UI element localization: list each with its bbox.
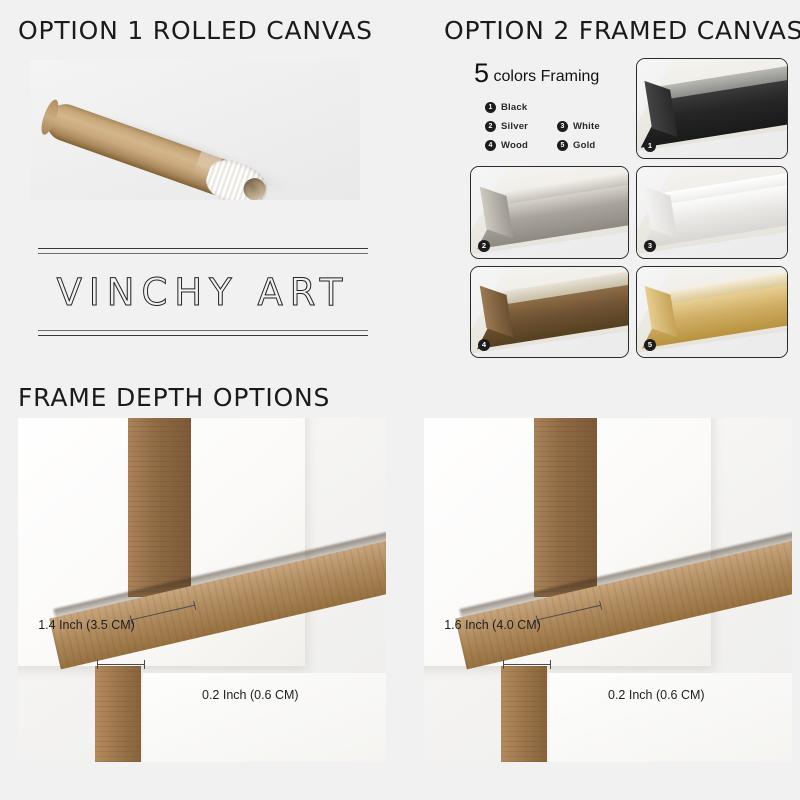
legend-row: 4 Wood 5 Gold bbox=[485, 140, 629, 151]
frame-rail-end bbox=[95, 666, 141, 762]
legend-label-black: Black bbox=[501, 102, 527, 113]
badge-1-icon: 1 bbox=[485, 102, 496, 113]
depth-photo-2: 1.6 Inch (4.0 CM) 0.2 Inch (0.6 CM) bbox=[424, 418, 792, 762]
legend-item-gold[interactable]: 5 Gold bbox=[557, 140, 629, 151]
frame-depth-heading: FRAME DEPTH OPTIONS bbox=[18, 383, 330, 412]
rolled-canvas-photo bbox=[30, 60, 360, 200]
badge-4-icon: 4 bbox=[485, 140, 496, 151]
legend-title: 5 colors Framing bbox=[474, 60, 629, 87]
sample-number-5: 5 bbox=[644, 339, 656, 351]
legend-title-rest: colors Framing bbox=[493, 68, 599, 85]
frame-stile bbox=[534, 418, 597, 597]
lower-wall bbox=[143, 673, 386, 762]
legend-row: 2 Silver 3 White bbox=[485, 121, 629, 132]
option1-heading: OPTION 1 ROLLED CANVAS bbox=[18, 16, 373, 45]
badge-5-icon: 5 bbox=[557, 140, 568, 151]
brand-name: VINCHY ART bbox=[38, 254, 368, 330]
frame-stile bbox=[128, 418, 191, 597]
legend-label-white: White bbox=[573, 121, 600, 132]
depth-dimension-label: 1.6 Inch (4.0 CM) bbox=[444, 618, 541, 632]
tube-end-cap bbox=[38, 98, 62, 137]
badge-2-icon: 2 bbox=[485, 121, 496, 132]
infographic-page: OPTION 1 ROLLED CANVAS VINCHY ART OPTION… bbox=[0, 0, 800, 800]
lower-wall bbox=[549, 673, 792, 762]
legend-label-gold: Gold bbox=[573, 140, 595, 151]
option2-heading: OPTION 2 FRAMED CANVAS bbox=[444, 16, 800, 45]
frame-rail-end bbox=[501, 666, 547, 762]
frame-sample-silver[interactable]: 2 bbox=[470, 166, 629, 259]
depth-dimension-label: 1.4 Inch (3.5 CM) bbox=[38, 618, 135, 632]
thickness-dimension-label: 0.2 Inch (0.6 CM) bbox=[202, 688, 299, 702]
frame-sample-white[interactable]: 3 bbox=[636, 166, 788, 259]
badge-3-icon: 3 bbox=[557, 121, 568, 132]
sample-number-3: 3 bbox=[644, 240, 656, 252]
thickness-dimension-line bbox=[503, 664, 551, 665]
frame-sample-photo bbox=[637, 167, 787, 258]
legend-label-wood: Wood bbox=[501, 140, 528, 151]
frame-sample-photo bbox=[471, 267, 628, 358]
legend-item-black[interactable]: 1 Black bbox=[485, 102, 557, 113]
frame-sample-black[interactable]: 1 bbox=[636, 58, 788, 159]
frame-sample-gold[interactable]: 5 bbox=[636, 266, 788, 359]
legend-row: 1 Black bbox=[485, 102, 629, 113]
framing-options: 5 colors Framing 1 Black 2 Silver bbox=[470, 58, 788, 358]
thickness-dimension-line bbox=[97, 664, 145, 665]
legend-item-white[interactable]: 3 White bbox=[557, 121, 629, 132]
frame-sample-photo bbox=[637, 59, 787, 158]
sample-number-4: 4 bbox=[478, 339, 490, 351]
legend-rows: 1 Black 2 Silver 3 White bbox=[474, 102, 629, 151]
sample-number-2: 2 bbox=[478, 240, 490, 252]
cardboard-tube bbox=[42, 99, 258, 200]
legend-label-silver: Silver bbox=[501, 121, 528, 132]
legend-item-wood[interactable]: 4 Wood bbox=[485, 140, 557, 151]
brand-logo: VINCHY ART bbox=[38, 248, 368, 348]
frame-sample-wood[interactable]: 4 bbox=[470, 266, 629, 359]
legend-count: 5 bbox=[474, 58, 489, 88]
frame-sample-photo bbox=[471, 167, 628, 258]
thickness-dimension-label: 0.2 Inch (0.6 CM) bbox=[608, 688, 705, 702]
depth-photo-1: 1.4 Inch (3.5 CM) 0.2 Inch (0.6 CM) bbox=[18, 418, 386, 762]
frame-sample-grid: 5 colors Framing 1 Black 2 Silver bbox=[470, 58, 788, 358]
legend-item-silver[interactable]: 2 Silver bbox=[485, 121, 557, 132]
frame-sample-photo bbox=[637, 267, 787, 358]
color-legend: 5 colors Framing 1 Black 2 Silver bbox=[470, 58, 629, 159]
sample-number-1: 1 bbox=[644, 140, 656, 152]
tube-opening bbox=[241, 175, 269, 200]
logo-rule-bottom-outer bbox=[38, 335, 368, 336]
